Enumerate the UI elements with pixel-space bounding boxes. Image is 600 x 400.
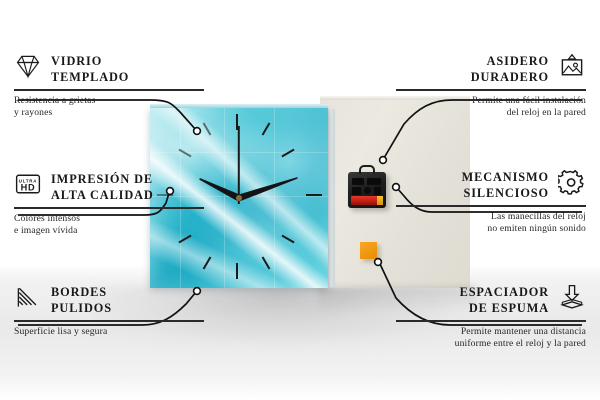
feature-subtitle: Resistencia a grietas y rayones bbox=[14, 95, 204, 120]
svg-text:HD: HD bbox=[21, 183, 36, 193]
feature-divider bbox=[14, 89, 204, 90]
feature-divider bbox=[14, 207, 204, 208]
polished-edge-icon bbox=[14, 283, 42, 311]
feature-sub-line1: Permite una fácil instalación bbox=[472, 95, 586, 106]
feature-subtitle: Permite una fácil instalación del reloj … bbox=[396, 95, 586, 120]
feature-heading: ASIDERO DURADERO bbox=[396, 52, 586, 85]
feature-divider bbox=[14, 320, 204, 321]
wall-frame-icon bbox=[558, 52, 586, 80]
feature-tempered-glass: VIDRIO TEMPLADO Resistencia a grietas y … bbox=[14, 52, 204, 120]
feature-title-line1: BORDES bbox=[51, 285, 107, 299]
feature-title-line2: TEMPLADO bbox=[51, 70, 129, 84]
feature-title-line1: MECANISMO bbox=[462, 170, 549, 184]
feature-divider bbox=[396, 205, 586, 206]
feature-foam-spacer: ESPACIADOR DE ESPUMA Permite mantener un… bbox=[396, 283, 586, 351]
gear-icon bbox=[558, 168, 586, 196]
feature-sub-line1: Las manecillas del reloj bbox=[491, 211, 586, 222]
feature-heading: ESPACIADOR DE ESPUMA bbox=[396, 283, 586, 316]
feature-sub-line2: uniforme entre el reloj y la pared bbox=[455, 338, 586, 349]
connector-dot-tempered-glass bbox=[194, 128, 201, 135]
feature-title-line2: PULIDOS bbox=[51, 301, 112, 315]
feature-title-line2: ALTA CALIDAD bbox=[51, 188, 154, 202]
feature-sub-line2: e imagen vívida bbox=[14, 225, 78, 236]
feature-polished-edges: BORDES PULIDOS Superficie lisa y segura bbox=[14, 283, 204, 338]
diamond-icon bbox=[14, 52, 42, 80]
feature-subtitle: Superficie lisa y segura bbox=[14, 326, 204, 339]
press-down-icon bbox=[558, 283, 586, 311]
connector-dot-foam-spacer bbox=[375, 259, 382, 266]
feature-subtitle: Permite mantener una distancia uniforme … bbox=[396, 326, 586, 351]
feature-title: ESPACIADOR DE ESPUMA bbox=[460, 283, 549, 316]
feature-title-line1: ASIDERO bbox=[487, 54, 549, 68]
feature-durable-hanger: ASIDERO DURADERO Permite una fácil insta… bbox=[396, 52, 586, 120]
infographic-stage: VIDRIO TEMPLADO Resistencia a grietas y … bbox=[0, 0, 600, 400]
feature-title: BORDES PULIDOS bbox=[51, 283, 112, 316]
feature-title-line1: VIDRIO bbox=[51, 54, 102, 68]
feature-title: VIDRIO TEMPLADO bbox=[51, 52, 129, 85]
feature-sub-line1: Superficie lisa y segura bbox=[14, 326, 107, 337]
feature-title: ASIDERO DURADERO bbox=[471, 52, 549, 85]
feature-print-quality: ultra HD IMPRESIÓN DE ALTA CALIDAD Color… bbox=[14, 170, 204, 238]
feature-silent-mechanism: MECANISMO SILENCIOSO Las manecillas del … bbox=[396, 168, 586, 236]
feature-title-line2: DURADERO bbox=[471, 70, 549, 84]
feature-subtitle: Colores intensos e imagen vívida bbox=[14, 213, 204, 238]
feature-title: MECANISMO SILENCIOSO bbox=[462, 168, 549, 201]
feature-title-line1: ESPACIADOR bbox=[460, 285, 549, 299]
feature-title: IMPRESIÓN DE ALTA CALIDAD bbox=[51, 170, 154, 203]
feature-sub-line2: del reloj en la pared bbox=[507, 107, 586, 118]
connector-dot-durable-hanger bbox=[380, 157, 387, 164]
feature-subtitle: Las manecillas del reloj no emiten ningú… bbox=[396, 211, 586, 236]
feature-title-line1: IMPRESIÓN DE bbox=[51, 172, 153, 186]
feature-divider bbox=[396, 320, 586, 321]
feature-sub-line2: no emiten ningún sonido bbox=[487, 223, 586, 234]
feature-heading: MECANISMO SILENCIOSO bbox=[396, 168, 586, 201]
feature-heading: VIDRIO TEMPLADO bbox=[14, 52, 204, 85]
feature-sub-line1: Colores intensos bbox=[14, 213, 80, 224]
feature-heading: BORDES PULIDOS bbox=[14, 283, 204, 316]
feature-title-line2: SILENCIOSO bbox=[463, 186, 549, 200]
feature-sub-line2: y rayones bbox=[14, 107, 52, 118]
feature-divider bbox=[396, 89, 586, 90]
feature-sub-line1: Permite mantener una distancia bbox=[461, 326, 586, 337]
ultra-hd-icon: ultra HD bbox=[14, 170, 42, 198]
feature-heading: ultra HD IMPRESIÓN DE ALTA CALIDAD bbox=[14, 170, 204, 203]
feature-sub-line1: Resistencia a grietas bbox=[14, 95, 95, 106]
feature-title-line2: DE ESPUMA bbox=[469, 301, 549, 315]
